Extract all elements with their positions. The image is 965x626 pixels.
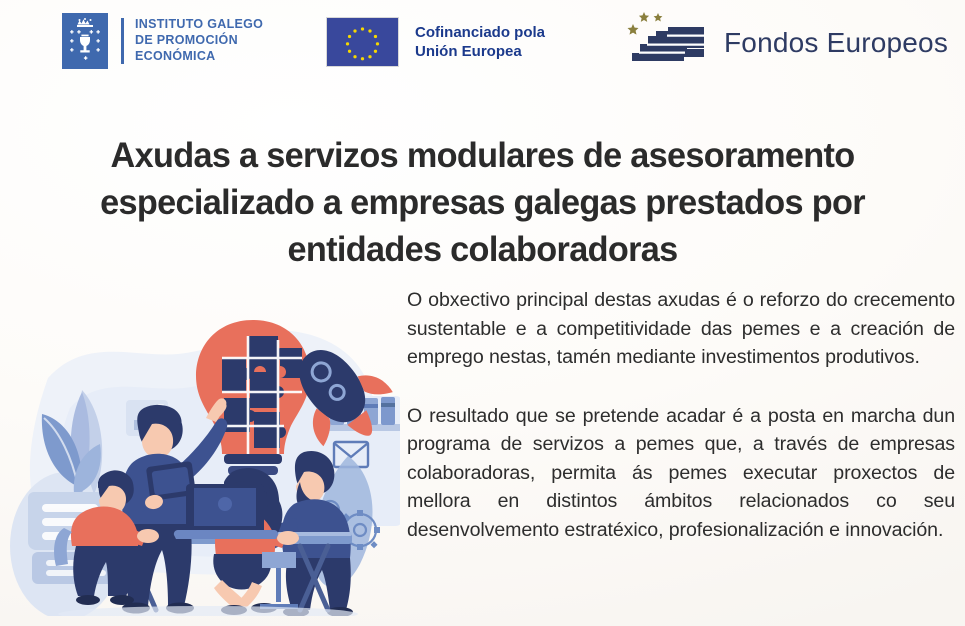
page-title: Axudas a servizos modulares de asesorame… bbox=[50, 132, 916, 274]
fondos-europeos-steps-icon bbox=[620, 10, 712, 76]
igape-label: INSTITUTO GALEGO DE PROMOCIÓN ECONÓMICA bbox=[135, 17, 263, 65]
igape-divider bbox=[121, 18, 124, 64]
paragraph-objective: O obxectivo principal destas axudas é o … bbox=[407, 286, 955, 372]
logo-fondos-europeos: Fondos Europeos bbox=[620, 10, 948, 76]
galicia-coat-of-arms-icon bbox=[62, 13, 108, 69]
logo-european-union: Cofinanciado pola Unión Europea bbox=[326, 17, 545, 67]
logo-bar: INSTITUTO GALEGO DE PROMOCIÓN ECONÓMICA bbox=[0, 0, 965, 92]
logo-igape: INSTITUTO GALEGO DE PROMOCIÓN ECONÓMICA bbox=[62, 13, 263, 69]
paragraph-result: O resultado que se pretende acadar é a p… bbox=[407, 402, 955, 545]
european-union-flag-icon bbox=[326, 17, 399, 67]
poster-page: INSTITUTO GALEGO DE PROMOCIÓN ECONÓMICA bbox=[0, 0, 965, 626]
fondos-europeos-label: Fondos Europeos bbox=[724, 27, 948, 59]
body-copy: O obxectivo principal destas axudas é o … bbox=[407, 286, 955, 544]
team-collaboration-illustration bbox=[8, 296, 400, 616]
european-union-label: Cofinanciado pola Unión Europea bbox=[415, 23, 545, 62]
